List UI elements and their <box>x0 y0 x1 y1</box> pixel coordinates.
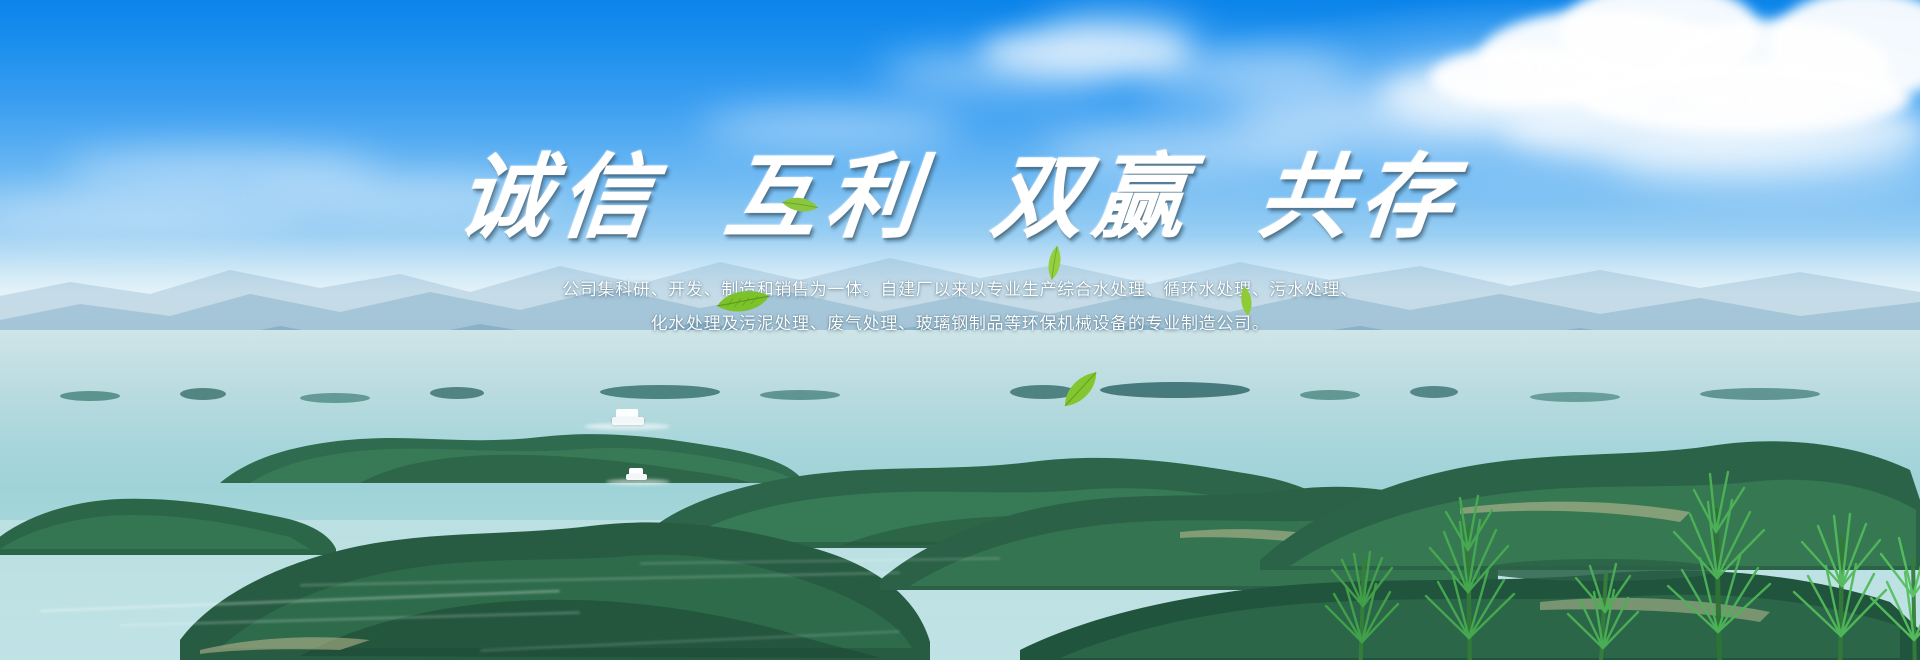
page-title: 诚信 互利 双赢 共存 <box>0 150 1920 247</box>
island-foreground-left <box>160 470 940 660</box>
subtitle-line-1: 公司集科研、开发、制造和销售为一体。自建厂以来以专业生产综合水处理、循环水处理、… <box>0 273 1920 307</box>
pine-branch-foreground <box>1270 378 1920 660</box>
subtitle-line-2: 化水处理及污泥处理、废气处理、玻璃钢制品等环保机械设备的专业制造公司。 <box>0 307 1920 341</box>
hero-banner: 诚信 互利 双赢 共存 公司集科研、开发、制造和销售为一体。自建厂以来以专业生产… <box>0 0 1920 660</box>
small-boat <box>626 468 647 480</box>
ferry-boat <box>612 409 644 425</box>
hero-copy: 诚信 互利 双赢 共存 公司集科研、开发、制造和销售为一体。自建厂以来以专业生产… <box>0 150 1920 341</box>
hero-subtitle: 公司集科研、开发、制造和销售为一体。自建厂以来以专业生产综合水处理、循环水处理、… <box>0 273 1920 341</box>
